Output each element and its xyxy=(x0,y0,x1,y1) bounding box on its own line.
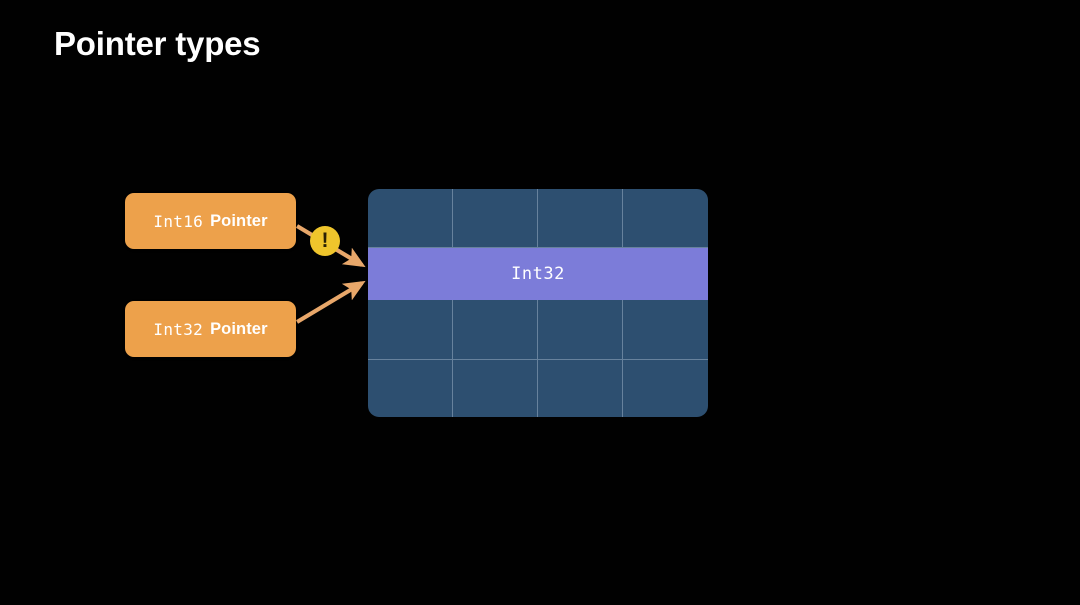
arrow-int32-to-memory xyxy=(297,283,362,322)
memory-cell xyxy=(623,360,708,417)
warning-glyph: ! xyxy=(322,230,329,251)
memory-layout-grid: Int32 xyxy=(368,189,708,417)
memory-cell xyxy=(453,300,538,360)
memory-cell xyxy=(538,360,623,417)
memory-cell xyxy=(368,360,453,417)
memory-row xyxy=(368,300,708,360)
int32-pointer-box[interactable]: Int32 Pointer xyxy=(125,301,296,357)
int32-pointer-suffix: Pointer xyxy=(210,320,268,339)
memory-row xyxy=(368,360,708,417)
memory-row xyxy=(368,189,708,248)
memory-cell xyxy=(368,189,453,248)
memory-cell xyxy=(368,300,453,360)
memory-cell xyxy=(453,360,538,417)
int16-pointer-box[interactable]: Int16 Pointer xyxy=(125,193,296,249)
memory-cell xyxy=(538,189,623,248)
int32-pointer-type: Int32 xyxy=(153,320,203,339)
int16-pointer-type: Int16 xyxy=(153,212,203,231)
memory-cell xyxy=(453,189,538,248)
memory-highlight-label: Int32 xyxy=(511,264,565,284)
int16-pointer-suffix: Pointer xyxy=(210,212,268,231)
memory-cell xyxy=(623,300,708,360)
memory-highlight-band: Int32 xyxy=(368,248,708,300)
memory-cell xyxy=(538,300,623,360)
memory-cell xyxy=(623,189,708,248)
page-title: Pointer types xyxy=(54,25,260,63)
warning-icon: ! xyxy=(310,226,340,256)
slide-canvas: Pointer types Int16 Pointer Int32 Pointe… xyxy=(0,0,1080,605)
